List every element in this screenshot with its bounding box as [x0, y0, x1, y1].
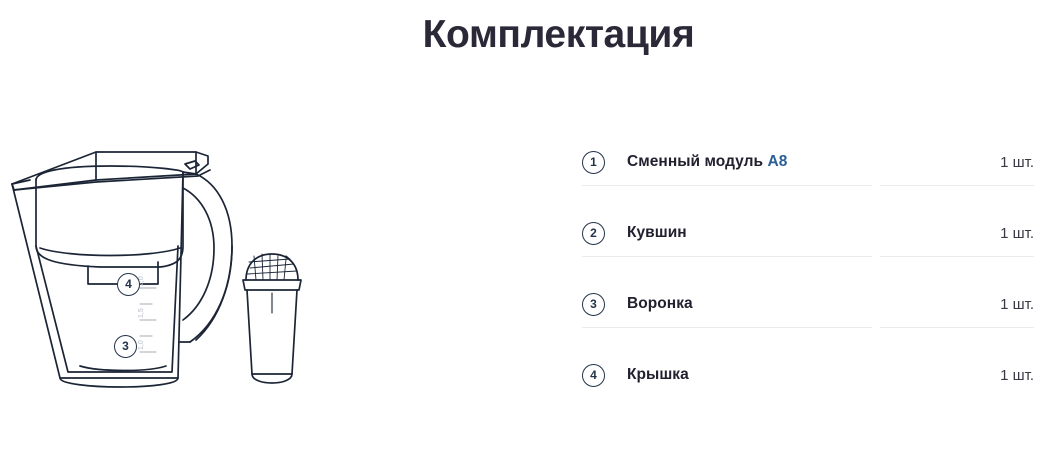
parts-row-label: Сменный модуль A8	[627, 153, 1000, 171]
divider-segment-left	[582, 185, 872, 186]
filter-cartridge-shape	[243, 254, 301, 383]
parts-row-divider	[582, 256, 1034, 257]
divider-segment-right	[880, 327, 1034, 328]
parts-row-quantity: 1 шт.	[1000, 367, 1034, 384]
parts-row-quantity: 1 шт.	[1000, 225, 1034, 242]
parts-list-row: 4 Крышка 1 шт.	[582, 344, 1034, 415]
parts-row-label-text: Крышка	[627, 366, 689, 383]
divider-segment-left	[582, 327, 872, 328]
page-title: Комплектация	[0, 11, 1041, 59]
parts-row-badge: 3	[582, 293, 605, 316]
parts-row-quantity: 1 шт.	[1000, 296, 1034, 313]
parts-row-badge: 2	[582, 222, 605, 245]
parts-list: 1 Сменный модуль A8 1 шт. 2 Кувшин 1 шт.	[582, 131, 1034, 415]
divider-segment-right	[880, 185, 1034, 186]
page-title-text: Комплектация	[423, 13, 695, 56]
parts-row-label-text: Кувшин	[627, 224, 687, 241]
parts-row-label: Кувшин	[627, 224, 1000, 242]
komplektatsiya-section: Комплектация	[0, 0, 1041, 449]
parts-row-label: Крышка	[627, 366, 1000, 384]
svg-text:1,5: 1,5	[138, 308, 145, 318]
parts-row-badge: 1	[582, 151, 605, 174]
divider-segment-right	[880, 256, 1034, 257]
parts-row-label-accent: A8	[767, 153, 787, 170]
callout-badge-4[interactable]: 4	[117, 273, 140, 296]
parts-list-row: 3 Воронка 1 шт.	[582, 273, 1034, 344]
parts-row-divider	[582, 327, 1034, 328]
handle-shape	[180, 172, 232, 342]
jug-body-shape	[12, 172, 183, 387]
parts-row-label-text: Сменный модуль	[627, 153, 767, 170]
product-illustration: 2,0 1,5 1,0	[0, 128, 330, 428]
svg-text:1,0: 1,0	[138, 340, 145, 350]
parts-list-row: 2 Кувшин 1 шт.	[582, 202, 1034, 273]
parts-row-divider	[582, 185, 1034, 186]
parts-row-label-text: Воронка	[627, 295, 693, 312]
parts-row-quantity: 1 шт.	[1000, 154, 1034, 171]
parts-row-label: Воронка	[627, 295, 1000, 313]
callout-badge-3[interactable]: 3	[114, 335, 137, 358]
pitcher-and-cartridge-drawing: 2,0 1,5 1,0	[0, 128, 330, 428]
divider-segment-left	[582, 256, 872, 257]
parts-row-badge: 4	[582, 364, 605, 387]
parts-list-row: 1 Сменный модуль A8 1 шт.	[582, 131, 1034, 202]
